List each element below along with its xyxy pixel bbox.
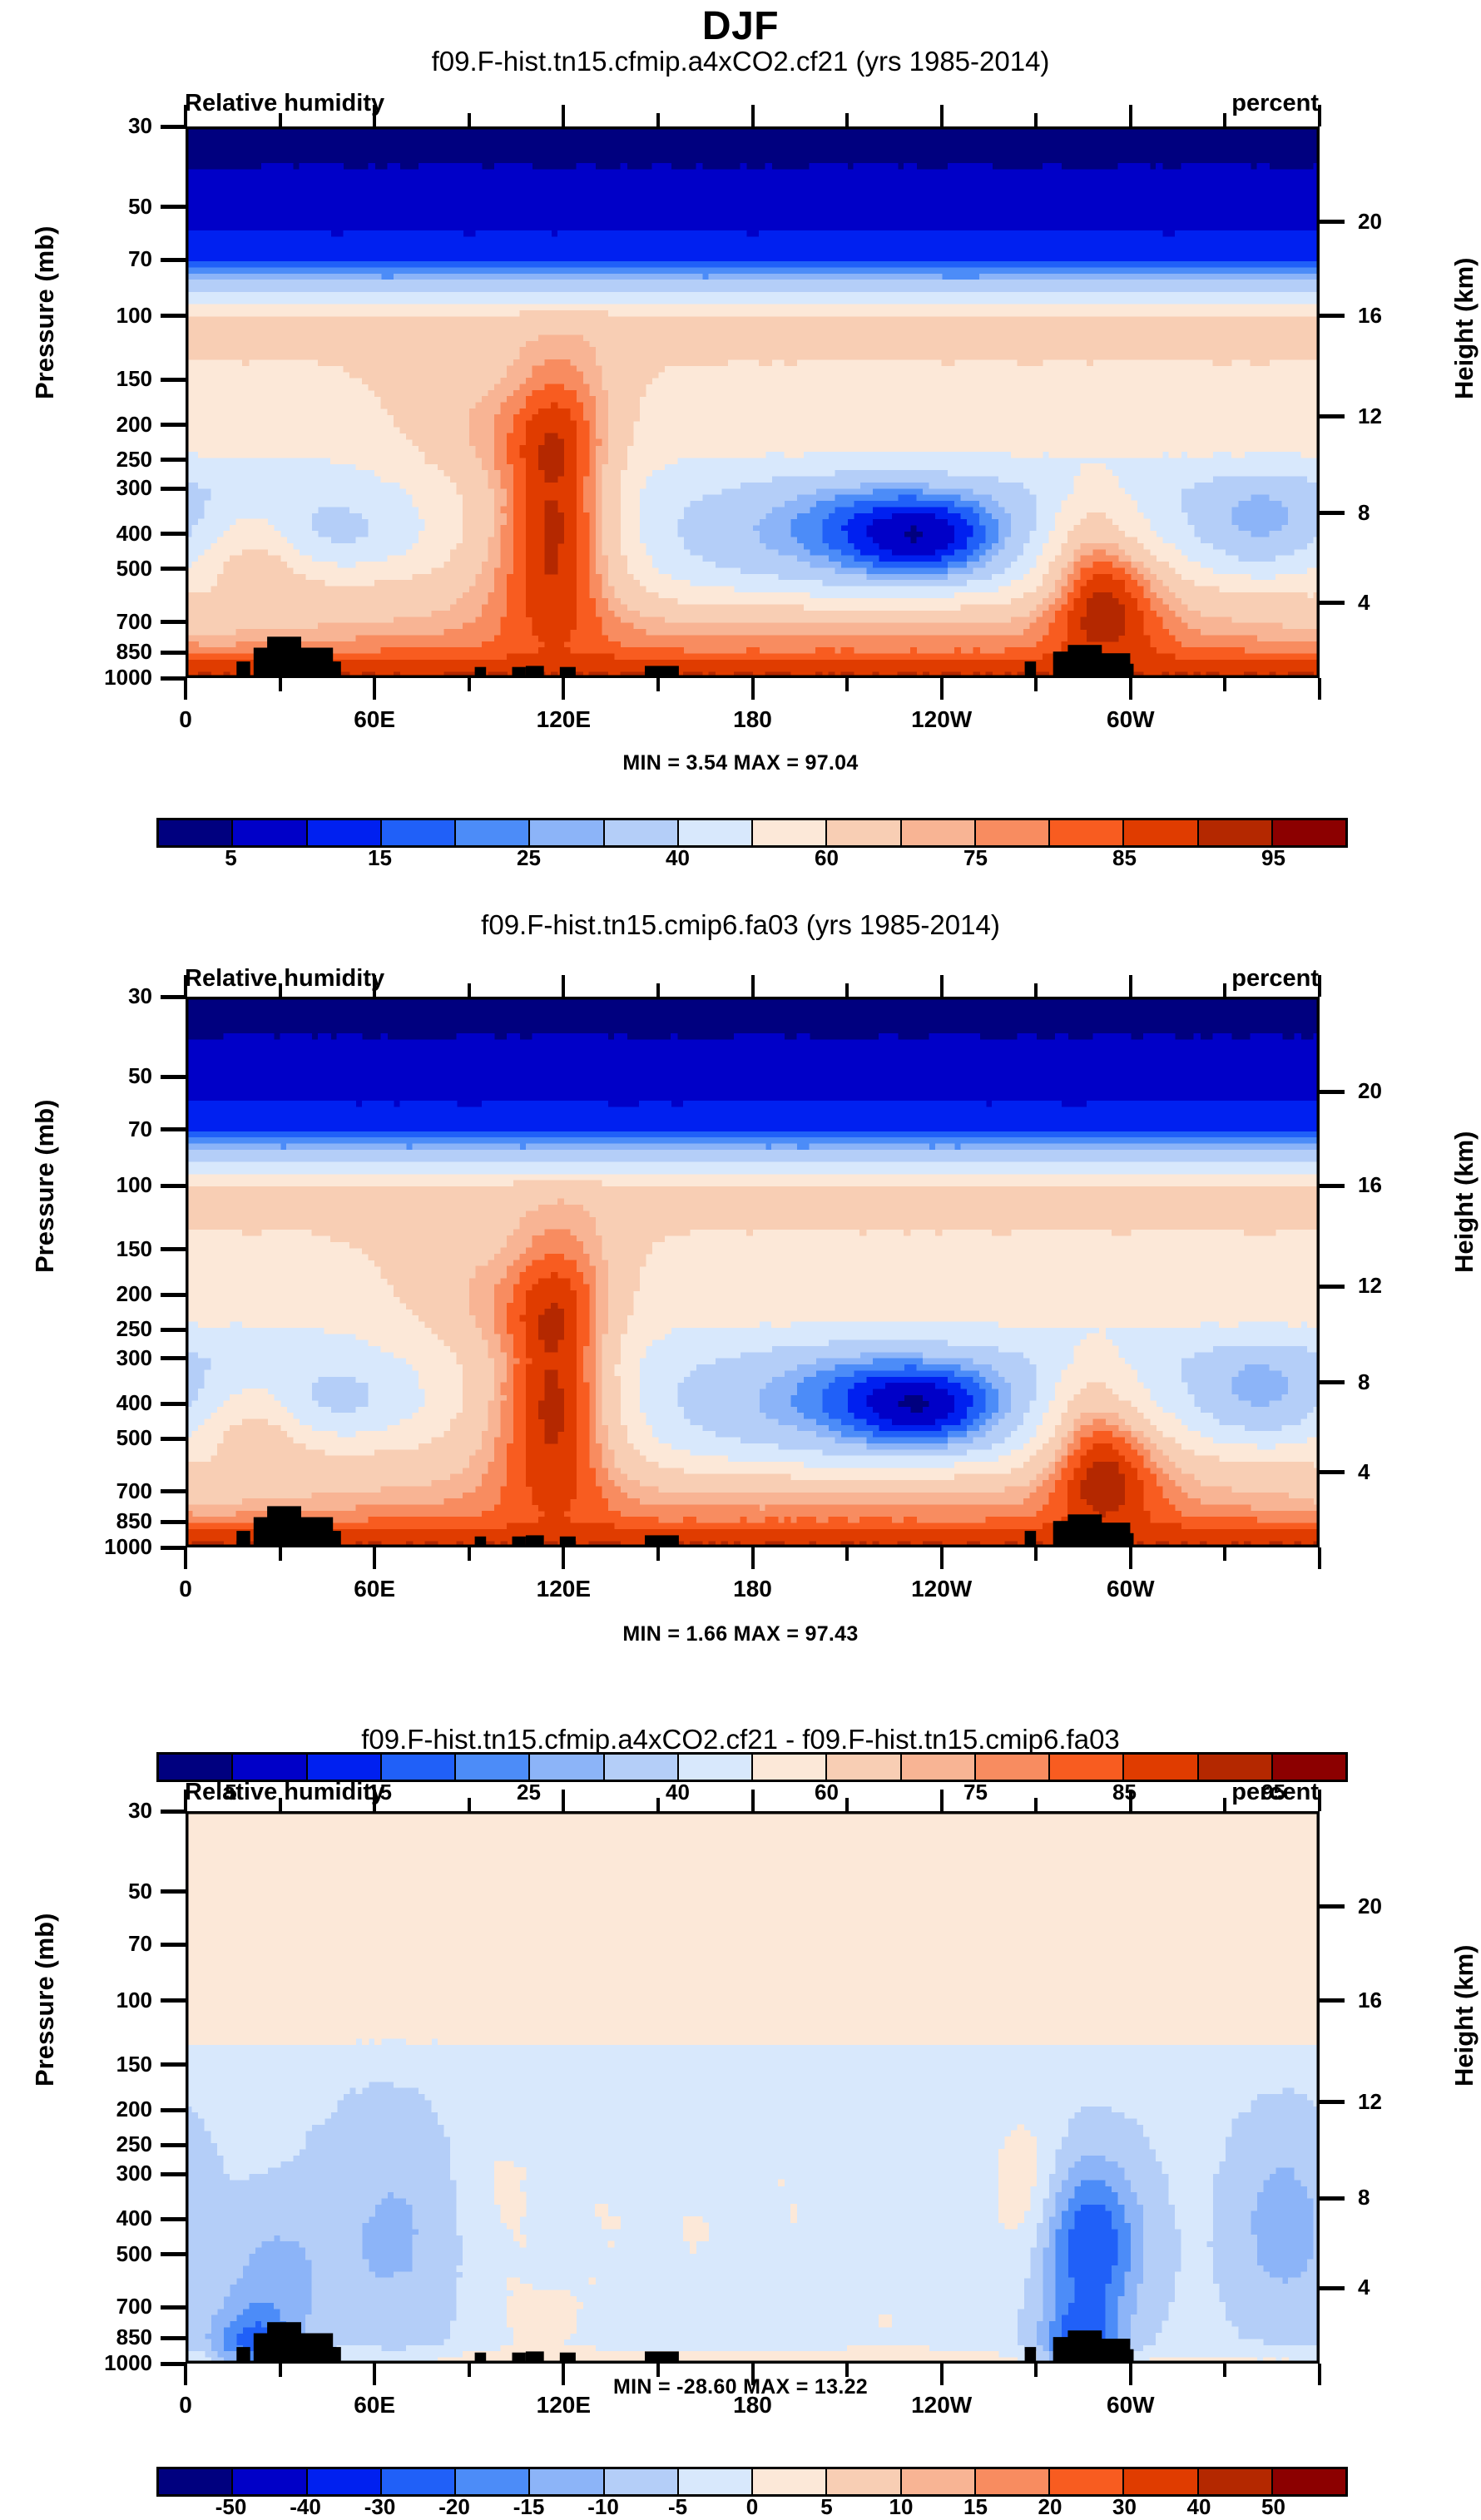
colorbar-label-15: 15 [330,1780,430,1805]
colorbar-label-5: 5 [181,1780,281,1805]
ytick-mark [161,205,186,209]
ytick-mark [161,2217,186,2221]
y2tick-mark [1320,2286,1345,2290]
ytick-mark [161,2062,186,2067]
xtick-mark-top [1318,1790,1321,1811]
xtick-mark-bottom [373,1547,376,1569]
xtick-mark-top [751,105,755,126]
panel-2-variable-label: Relative humidity [185,965,384,993]
ytick-mark [161,2252,186,2256]
y2tick-mark [1320,511,1345,515]
colorbar-swatch [605,2469,679,2494]
xtick-mark-bottom [279,678,282,691]
ytick-mark [161,378,186,382]
colorbar-swatch [1124,820,1198,845]
xtick-label-2: 120E [505,1576,622,1602]
ytick-mark [161,676,186,681]
ytick-label-400: 400 [61,521,152,547]
panel-3-contour-plot [186,1811,1320,2364]
colorbar-label-95: 95 [1224,845,1324,871]
xtick-mark-top [184,1790,187,1811]
xtick-mark-bottom [1223,2364,1226,2377]
panel-1-units-label: percent [1231,90,1319,117]
ytick-mark [161,651,186,655]
panel-3-yaxis-title: Pressure (mb) [30,1914,60,2087]
colorbar-swatch [976,820,1050,845]
xtick-mark-top [184,975,187,997]
xtick-mark-top [940,105,944,126]
colorbar-swatch [1199,2469,1273,2494]
colorbar-swatch [902,2469,976,2494]
y2tick-label-4: 4 [1358,1459,1370,1485]
xtick-label-5: 60W [1072,1576,1189,1602]
xtick-mark-bottom [751,2364,755,2385]
xtick-label-5: 60W [1072,706,1189,733]
figure-root: DJF f09.F-hist.tn15.cfmip.a4xCO2.cf21 (y… [0,0,1481,2475]
ytick-label-200: 200 [61,1281,152,1307]
ytick-label-1000: 1000 [61,665,152,691]
panel-3-title: f09.F-hist.tn15.cfmip.a4xCO2.cf21 - f09.… [0,1724,1481,1755]
colorbar-swatch [605,1755,679,1780]
colorbar-label-40: 40 [628,845,728,871]
colorbar-swatch [530,2469,604,2494]
xtick-mark-top [1318,105,1321,126]
xtick-mark-bottom [845,678,849,691]
xtick-mark-bottom [279,1547,282,1561]
y2tick-mark [1320,314,1345,318]
xtick-mark-bottom [468,1547,471,1561]
xtick-mark-bottom [184,2364,187,2385]
colorbar-label-75: 75 [926,845,1026,871]
colorbar-swatch [159,1755,233,1780]
ytick-mark [161,314,186,318]
ytick-label-500: 500 [61,2241,152,2267]
colorbar-swatch [753,2469,827,2494]
ytick-mark [161,125,186,129]
ytick-label-70: 70 [61,1116,152,1142]
colorbar-swatch [456,820,530,845]
xtick-mark-bottom [845,2364,849,2377]
xtick-mark-bottom [1318,2364,1321,2385]
colorbar-swatch [827,2469,901,2494]
ytick-label-850: 850 [61,639,152,665]
colorbar-swatch [382,1755,456,1780]
ytick-mark [161,1328,186,1332]
xtick-mark-bottom [656,1547,660,1561]
ytick-mark [161,1520,186,1524]
xtick-label-2: 120E [505,706,622,733]
y2tick-label-20: 20 [1358,1894,1382,1919]
xtick-mark-bottom [1034,2364,1038,2377]
colorbar-swatch [1273,2469,1345,2494]
xtick-mark-top [468,983,471,997]
xtick-mark-bottom [184,1547,187,1569]
colorbar-swatch [1050,1755,1124,1780]
xtick-label-5: 60W [1072,2392,1189,2419]
colorbar-swatch [902,1755,976,1780]
ytick-mark [161,2108,186,2112]
panel-2-minmax: MIN = 1.66 MAX = 97.43 [0,1622,1481,1646]
ytick-mark [161,1437,186,1441]
xtick-label-4: 120W [884,706,1000,733]
ytick-mark [161,567,186,571]
y2tick-label-16: 16 [1358,303,1382,329]
ytick-mark [161,2305,186,2310]
xtick-mark-bottom [751,1547,755,1569]
colorbar-label-60: 60 [777,845,877,871]
xtick-mark-top [1223,983,1226,997]
ytick-mark [161,1293,186,1297]
y2tick-mark [1320,1285,1345,1289]
xtick-label-0: 0 [127,2392,244,2419]
colorbar-label-5: 5 [181,845,281,871]
panel-1-colorbar[interactable] [156,818,1348,848]
xtick-mark-top [468,113,471,126]
y2tick-mark [1320,2196,1345,2201]
xtick-label-1: 60E [316,2392,433,2419]
y2tick-mark [1320,1184,1345,1188]
xtick-mark-bottom [1318,1547,1321,1569]
ytick-label-300: 300 [61,475,152,501]
ytick-label-300: 300 [61,2161,152,2186]
xtick-mark-top [1223,1798,1226,1811]
xtick-mark-top [373,1790,376,1811]
xtick-mark-top [279,1798,282,1811]
xtick-mark-top [1129,1790,1132,1811]
panel-1-y2axis-title: Height (km) [1449,258,1479,400]
xtick-mark-top [468,1798,471,1811]
panel-2-yaxis-title: Pressure (mb) [30,1100,60,1273]
ytick-label-200: 200 [61,412,152,438]
colorbar-swatch [679,820,753,845]
xtick-label-3: 180 [695,2392,811,2419]
xtick-mark-top [1129,975,1132,997]
xtick-label-2: 120E [505,2392,622,2419]
ytick-mark [161,258,186,262]
panel-3-colorbar[interactable] [156,2467,1348,2497]
xtick-mark-top [184,105,187,126]
colorbar-label-85: 85 [1075,1780,1175,1805]
colorbar-swatch [827,820,901,845]
colorbar-swatch [753,820,827,845]
xtick-mark-top [373,105,376,126]
panel-1-title: f09.F-hist.tn15.cfmip.a4xCO2.cf21 (yrs 1… [0,46,1481,77]
xtick-mark-bottom [1034,678,1038,691]
ytick-label-50: 50 [61,1063,152,1089]
panel-1-variable-label: Relative humidity [185,90,384,117]
ytick-mark [161,487,186,491]
xtick-mark-bottom [184,678,187,700]
panel-1-minmax: MIN = 3.54 MAX = 97.04 [0,751,1481,775]
xtick-mark-top [940,1790,944,1811]
ytick-label-150: 150 [61,366,152,392]
colorbar-swatch [308,1755,382,1780]
ytick-mark [161,1889,186,1894]
ytick-mark [161,620,186,624]
colorbar-label-40: 40 [628,1780,728,1805]
colorbar-swatch [382,820,456,845]
colorbar-swatch [233,1755,307,1780]
panel-1-yaxis-title: Pressure (mb) [30,226,60,399]
ytick-label-1000: 1000 [61,2350,152,2376]
colorbar-swatch [753,1755,827,1780]
ytick-mark [161,1943,186,1947]
panel-3-y2axis-title: Height (km) [1449,1945,1479,2087]
ytick-label-250: 250 [61,447,152,473]
xtick-mark-top [1129,105,1132,126]
y2tick-mark [1320,1470,1345,1474]
ytick-label-30: 30 [61,1798,152,1824]
ytick-label-700: 700 [61,609,152,635]
ytick-label-500: 500 [61,1425,152,1451]
y2tick-mark [1320,1904,1345,1909]
xtick-label-3: 180 [695,706,811,733]
y2tick-label-16: 16 [1358,1988,1382,2013]
xtick-mark-bottom [940,1547,944,1569]
xtick-mark-bottom [940,2364,944,2385]
xtick-mark-bottom [1223,678,1226,691]
xtick-mark-top [845,113,849,126]
xtick-mark-top [656,983,660,997]
colorbar-swatch [382,2469,456,2494]
ytick-mark [161,2143,186,2147]
ytick-label-100: 100 [61,1172,152,1198]
y2tick-label-20: 20 [1358,1078,1382,1104]
colorbar-swatch [308,820,382,845]
colorbar-swatch [1124,1755,1198,1780]
y2tick-mark [1320,1380,1345,1384]
ytick-mark [161,1810,186,1814]
panel-2-colorbar[interactable] [156,1752,1348,1782]
colorbar-swatch [605,820,679,845]
colorbar-swatch [456,2469,530,2494]
y2tick-mark [1320,1998,1345,2003]
xtick-mark-top [1034,983,1038,997]
ytick-mark [161,458,186,462]
ytick-label-50: 50 [61,1879,152,1904]
xtick-mark-bottom [1034,1547,1038,1561]
xtick-mark-bottom [1223,1547,1226,1561]
xtick-mark-bottom [279,2364,282,2377]
y2tick-mark [1320,1090,1345,1094]
xtick-label-4: 120W [884,1576,1000,1602]
ytick-label-150: 150 [61,1236,152,1262]
xtick-mark-bottom [1129,2364,1132,2385]
colorbar-swatch [1124,2469,1198,2494]
ytick-label-70: 70 [61,1931,152,1957]
colorbar-swatch [308,2469,382,2494]
colorbar-label-95: 95 [1224,1780,1324,1805]
ytick-mark [161,2172,186,2176]
ytick-mark [161,532,186,536]
y2tick-label-4: 4 [1358,2275,1370,2300]
xtick-label-0: 0 [127,1576,244,1602]
ytick-label-700: 700 [61,1478,152,1504]
xtick-mark-bottom [468,2364,471,2377]
ytick-label-200: 200 [61,2097,152,2122]
xtick-mark-bottom [562,678,565,700]
colorbar-swatch [233,2469,307,2494]
ytick-label-100: 100 [61,1988,152,2013]
ytick-mark [161,1247,186,1251]
colorbar-swatch [902,820,976,845]
xtick-mark-top [1034,113,1038,126]
xtick-mark-bottom [1129,678,1132,700]
y2tick-label-12: 12 [1358,2089,1382,2115]
colorbar-swatch [1273,820,1345,845]
xtick-mark-top [562,975,565,997]
colorbar-swatch [1273,1755,1345,1780]
ytick-label-250: 250 [61,1316,152,1342]
colorbar-swatch [159,820,233,845]
y2tick-label-8: 8 [1358,1369,1370,1395]
ytick-mark [161,1546,186,1550]
ytick-label-850: 850 [61,2324,152,2350]
ytick-label-50: 50 [61,194,152,220]
ytick-label-250: 250 [61,2131,152,2157]
xtick-mark-top [1223,113,1226,126]
ytick-label-300: 300 [61,1345,152,1371]
colorbar-label-60: 60 [777,1780,877,1805]
xtick-mark-top [751,1790,755,1811]
panel-2-title: f09.F-hist.tn15.cmip6.fa03 (yrs 1985-201… [0,909,1481,941]
xtick-mark-top [751,975,755,997]
ytick-label-700: 700 [61,2294,152,2319]
xtick-mark-bottom [656,678,660,691]
xtick-label-3: 180 [695,1576,811,1602]
xtick-mark-bottom [751,678,755,700]
xtick-mark-bottom [1318,678,1321,700]
xtick-label-4: 120W [884,2392,1000,2419]
colorbar-swatch [679,1755,753,1780]
ytick-label-150: 150 [61,2052,152,2077]
ytick-label-500: 500 [61,556,152,582]
ytick-mark [161,1998,186,2003]
y2tick-mark [1320,220,1345,224]
xtick-mark-bottom [1129,1547,1132,1569]
xtick-mark-top [562,105,565,126]
panel-1-contour-plot [186,126,1320,678]
panel-2-y2axis-title: Height (km) [1449,1131,1479,1274]
colorbar-label-15: 15 [330,845,430,871]
ytick-mark [161,2362,186,2366]
xtick-mark-top [279,983,282,997]
xtick-mark-bottom [468,678,471,691]
xtick-mark-bottom [845,1547,849,1561]
xtick-mark-top [373,975,376,997]
ytick-mark [161,1184,186,1188]
ytick-mark [161,423,186,427]
xtick-mark-bottom [562,1547,565,1569]
xtick-mark-top [562,1790,565,1811]
xtick-mark-bottom [373,678,376,700]
xtick-mark-bottom [940,678,944,700]
colorbar-swatch [1199,820,1273,845]
xtick-label-1: 60E [316,706,433,733]
colorbar-swatch [679,2469,753,2494]
colorbar-swatch [827,1755,901,1780]
colorbar-swatch [233,820,307,845]
y2tick-mark [1320,2100,1345,2104]
xtick-mark-top [845,983,849,997]
xtick-label-0: 0 [127,706,244,733]
xtick-label-1: 60E [316,1576,433,1602]
ytick-mark [161,1356,186,1360]
ytick-label-30: 30 [61,113,152,139]
colorbar-swatch [159,2469,233,2494]
ytick-mark [161,1489,186,1493]
ytick-mark [161,1402,186,1406]
colorbar-swatch [530,1755,604,1780]
xtick-mark-top [1034,1798,1038,1811]
y2tick-label-12: 12 [1358,403,1382,429]
ytick-label-1000: 1000 [61,1534,152,1560]
y2tick-mark [1320,601,1345,605]
xtick-mark-bottom [373,2364,376,2385]
ytick-label-30: 30 [61,983,152,1009]
y2tick-mark [1320,414,1345,418]
ytick-mark [161,1075,186,1079]
colorbar-swatch [530,820,604,845]
ytick-mark [161,2336,186,2340]
colorbar-swatch [976,2469,1050,2494]
panel-2-contour-plot [186,997,1320,1547]
colorbar-swatch [456,1755,530,1780]
xtick-mark-top [656,1798,660,1811]
colorbar-swatch [1199,1755,1273,1780]
colorbar-swatch [976,1755,1050,1780]
xtick-mark-bottom [656,2364,660,2377]
y2tick-label-4: 4 [1358,590,1370,616]
y2tick-label-8: 8 [1358,2185,1370,2211]
xtick-mark-top [940,975,944,997]
xtick-mark-top [845,1798,849,1811]
xtick-mark-bottom [562,2364,565,2385]
y2tick-label-12: 12 [1358,1273,1382,1299]
ytick-label-100: 100 [61,303,152,329]
colorbar-label-85: 85 [1075,845,1175,871]
ytick-label-400: 400 [61,2206,152,2231]
colorbar-label-50: 50 [1224,2494,1324,2520]
y2tick-label-16: 16 [1358,1172,1382,1198]
ytick-mark [161,995,186,999]
ytick-label-850: 850 [61,1508,152,1534]
colorbar-label-25: 25 [479,845,579,871]
ytick-label-70: 70 [61,246,152,272]
y2tick-label-8: 8 [1358,500,1370,526]
ytick-label-400: 400 [61,1390,152,1416]
panel-2-units-label: percent [1231,965,1319,993]
colorbar-swatch [1050,820,1124,845]
y2tick-label-20: 20 [1358,209,1382,235]
ytick-mark [161,1127,186,1131]
colorbar-swatch [1050,2469,1124,2494]
xtick-mark-top [656,113,660,126]
xtick-mark-top [1318,975,1321,997]
xtick-mark-top [279,113,282,126]
